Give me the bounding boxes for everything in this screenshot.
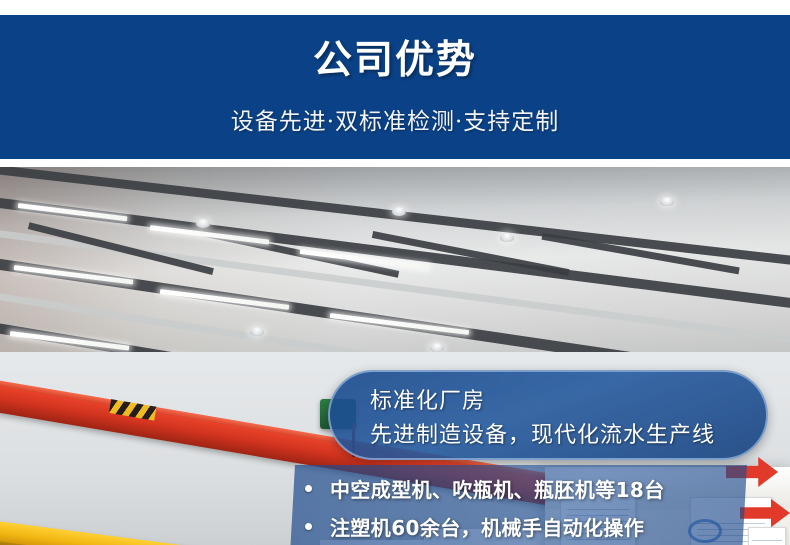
- highbay-lamp: [392, 207, 406, 216]
- highbay-lamp: [660, 197, 674, 206]
- callout-pill: 标准化厂房 先进制造设备，现代化流水生产线: [328, 370, 768, 460]
- feature-item-label: 注塑机60余台，机械手自动化操作: [330, 512, 644, 541]
- page-root: 公司优势 设备先进·双标准检测·支持定制: [0, 0, 790, 545]
- highbay-lamp: [500, 233, 514, 242]
- factory-photo: 标准化厂房 先进制造设备，现代化流水生产线 中空成型机、吹瓶机、瓶胚机等18台 …: [0, 167, 790, 545]
- page-title: 公司优势: [0, 38, 790, 82]
- callout-line-2: 先进制造设备，现代化流水生产线: [370, 417, 715, 449]
- header-banner: 公司优势 设备先进·双标准检测·支持定制: [0, 15, 790, 159]
- features-list: 中空成型机、吹瓶机、瓶胚机等18台 注塑机60余台，机械手自动化操作 40000…: [295, 465, 765, 545]
- callout-line-1: 标准化厂房: [370, 383, 485, 415]
- feature-item-label: 中空成型机、吹瓶机、瓶胚机等18台: [330, 474, 665, 503]
- bullet-dot-icon: [305, 485, 312, 492]
- highbay-lamp: [250, 327, 264, 336]
- highbay-lamp: [196, 219, 210, 228]
- roof-shading: [0, 167, 790, 367]
- feature-item: 注塑机60余台，机械手自动化操作: [305, 512, 644, 541]
- header-subtitle: 设备先进·双标准检测·支持定制: [0, 107, 790, 137]
- feature-item: 中空成型机、吹瓶机、瓶胚机等18台: [305, 474, 665, 503]
- highbay-lamp: [430, 343, 444, 352]
- bullet-dot-icon: [305, 523, 312, 530]
